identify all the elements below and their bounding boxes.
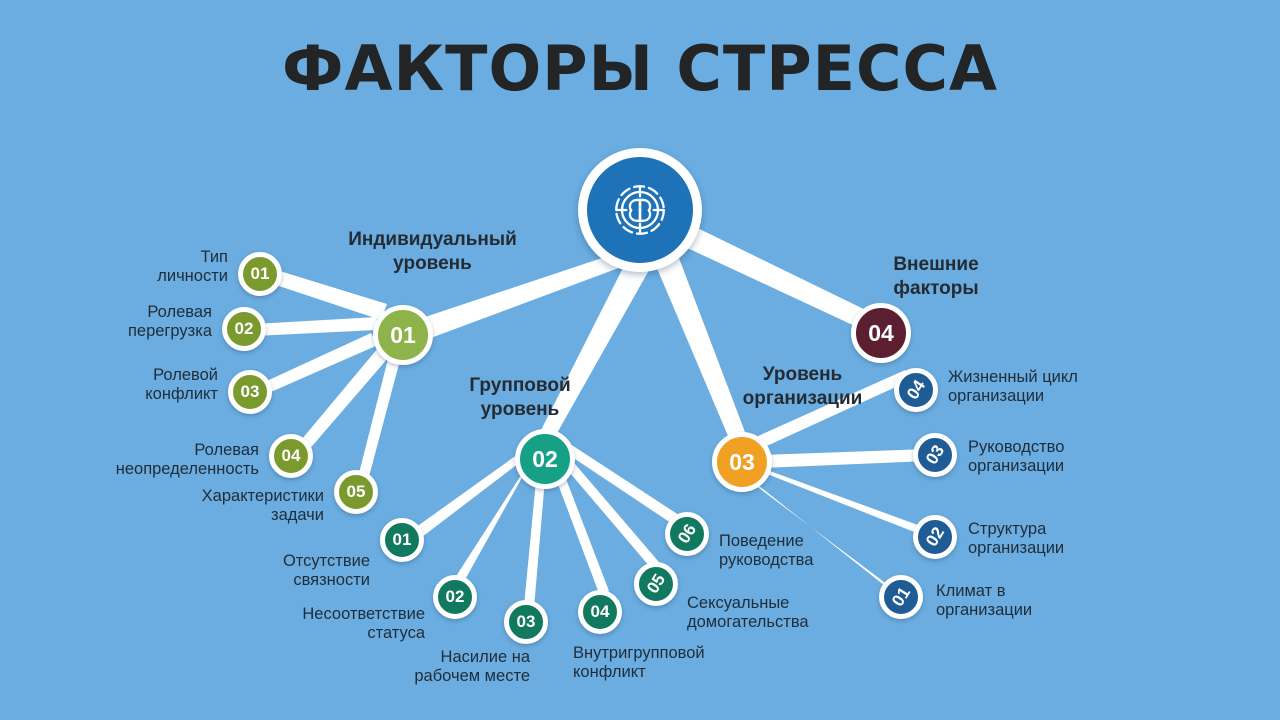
leaf-label-group-06: Поведение руководства	[719, 532, 889, 571]
leaf-node-group-02[interactable]: 02	[433, 575, 477, 619]
branch-node-external-number: 04	[868, 320, 894, 347]
leaf-node-individual-04[interactable]: 04	[269, 434, 313, 478]
leaf-node-individual-01[interactable]: 01	[238, 252, 282, 296]
branch-heading-group: Групповой уровень	[430, 374, 610, 422]
leaf-number: 04	[902, 377, 929, 404]
leaf-node-organization-03[interactable]: 03	[913, 433, 957, 477]
leaf-label-group-04: Внутригрупповой конфликт	[573, 644, 753, 683]
leaf-label-organization-02: Структура организации	[968, 520, 1158, 559]
leaf-node-group-01[interactable]: 01	[380, 518, 424, 562]
leaf-label-individual-02: Ролевая перегрузка	[82, 303, 212, 342]
page-title: ФАКТОРЫ СТРЕССА	[0, 36, 1280, 101]
branch-heading-individual: Индивидуальный уровень	[335, 228, 530, 276]
leaf-label-group-03: Насилие на рабочем месте	[360, 648, 530, 687]
branch-node-individual-number: 01	[390, 322, 416, 349]
leaf-number: 02	[235, 319, 254, 339]
branch-node-group[interactable]: 02	[515, 429, 575, 489]
leaf-number: 03	[241, 382, 260, 402]
leaf-node-group-03[interactable]: 03	[504, 600, 548, 644]
leaf-label-organization-01: Климат в организации	[936, 582, 1126, 621]
hub-node[interactable]	[578, 148, 702, 272]
branch-heading-external: Внешние факторы	[856, 253, 1016, 301]
branch-node-external[interactable]: 04	[851, 303, 911, 363]
leaf-label-organization-03: Руководство организации	[968, 438, 1158, 477]
leaf-node-group-06[interactable]: 06	[665, 512, 709, 556]
leaf-node-individual-03[interactable]: 03	[228, 370, 272, 414]
branch-node-organization-number: 03	[729, 449, 755, 476]
leaf-number: 02	[921, 524, 948, 551]
leaf-number: 01	[251, 264, 270, 284]
leaf-number: 03	[517, 612, 536, 632]
brain-target-icon	[604, 174, 676, 246]
leaf-label-individual-05: Характеристики задачи	[154, 487, 324, 526]
leaf-node-organization-04[interactable]: 04	[894, 368, 938, 412]
leaf-number: 03	[921, 442, 948, 469]
leaf-number: 04	[591, 602, 610, 622]
leaf-node-organization-01[interactable]: 01	[879, 575, 923, 619]
leaf-node-individual-05[interactable]: 05	[334, 470, 378, 514]
leaf-label-group-01: Отсутствие связности	[220, 552, 370, 591]
branch-node-group-number: 02	[532, 446, 558, 473]
branch-heading-organization: Уровень организации	[714, 363, 891, 411]
leaf-number: 05	[347, 482, 366, 502]
leaf-node-group-04[interactable]: 04	[578, 590, 622, 634]
leaf-label-group-02: Несоответствие статуса	[240, 605, 425, 644]
branch-node-organization[interactable]: 03	[712, 432, 772, 492]
leaf-node-individual-02[interactable]: 02	[222, 307, 266, 351]
leaf-number: 06	[673, 521, 700, 548]
leaf-number: 01	[393, 530, 412, 550]
leaf-label-individual-01: Тип личности	[108, 248, 228, 287]
leaf-label-individual-04: Ролевая неопределенность	[89, 441, 259, 480]
leaf-number: 02	[446, 587, 465, 607]
leaf-label-individual-03: Ролевой конфликт	[88, 366, 218, 405]
leaf-node-organization-02[interactable]: 02	[913, 515, 957, 559]
leaf-label-group-05: Сексуальные домогательства	[687, 594, 872, 633]
leaf-number: 01	[887, 584, 914, 611]
infographic-slide: ФАКТОРЫ СТРЕССА Индивидуальный уровень 0…	[0, 0, 1280, 720]
leaf-number: 04	[282, 446, 301, 466]
leaf-node-group-05[interactable]: 05	[634, 562, 678, 606]
leaf-label-organization-04: Жизненный цикл организации	[948, 368, 1148, 407]
leaf-number: 05	[642, 571, 669, 598]
branch-node-individual[interactable]: 01	[373, 305, 433, 365]
